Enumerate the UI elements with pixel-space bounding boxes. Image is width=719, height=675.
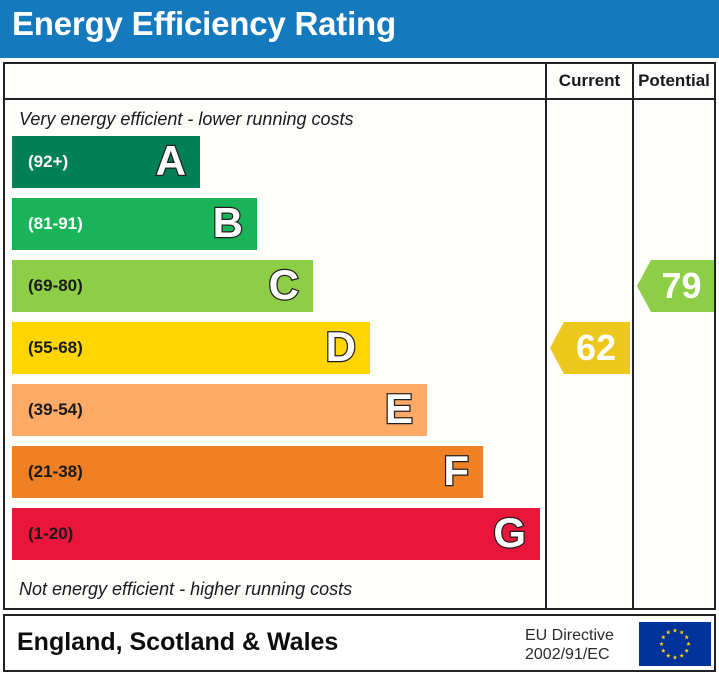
column-divider-potential	[632, 100, 634, 608]
band-range-f: (21-38)	[28, 462, 83, 482]
footer-bar: England, Scotland & Wales EU Directive 2…	[3, 614, 716, 672]
band-range-b: (81-91)	[28, 214, 83, 234]
band-letter-a: A	[156, 140, 186, 182]
column-header-current: Current	[545, 64, 632, 98]
footer-directive-line1: EU Directive	[525, 626, 614, 645]
energy-efficiency-certificate: Energy Efficiency Rating Current Potenti…	[0, 0, 719, 675]
band-range-e: (39-54)	[28, 400, 83, 420]
band-letter-b: B	[213, 202, 243, 244]
potential-rating-value: 79	[649, 268, 701, 304]
band-row-e: (39-54)E	[12, 384, 427, 436]
page-title: Energy Efficiency Rating	[12, 5, 396, 43]
band-letter-d: D	[326, 326, 356, 368]
footer-directive-line2: 2002/91/EC	[525, 645, 614, 664]
band-range-d: (55-68)	[28, 338, 83, 358]
band-letter-g: G	[493, 512, 526, 554]
band-row-b: (81-91)B	[12, 198, 257, 250]
current-rating-value: 62	[564, 330, 616, 366]
current-rating-arrow: 62	[550, 322, 630, 374]
band-row-c: (69-80)C	[12, 260, 313, 312]
band-range-c: (69-80)	[28, 276, 83, 296]
rating-table: Current Potential Very energy efficient …	[3, 62, 716, 610]
band-row-d: (55-68)D	[12, 322, 370, 374]
band-letter-e: E	[385, 388, 413, 430]
eu-flag-icon	[639, 622, 711, 666]
footer-directive: EU Directive 2002/91/EC	[525, 626, 614, 664]
band-letter-f: F	[443, 450, 469, 492]
caption-efficient: Very energy efficient - lower running co…	[5, 102, 545, 136]
band-letter-c: C	[269, 264, 299, 306]
band-list: (92+)A(81-91)B(69-80)C(55-68)D(39-54)E(2…	[5, 136, 545, 572]
band-row-a: (92+)A	[12, 136, 200, 188]
band-row-f: (21-38)F	[12, 446, 483, 498]
column-divider-current	[545, 100, 547, 608]
band-row-g: (1-20)G	[12, 508, 540, 560]
header-banner: Energy Efficiency Rating	[0, 0, 719, 58]
column-header-potential: Potential	[632, 64, 714, 98]
band-range-g: (1-20)	[28, 524, 73, 544]
footer-region-label: England, Scotland & Wales	[17, 628, 338, 657]
band-range-a: (92+)	[28, 152, 68, 172]
caption-not-efficient: Not energy efficient - higher running co…	[5, 572, 545, 606]
potential-rating-arrow: 79	[637, 260, 714, 312]
